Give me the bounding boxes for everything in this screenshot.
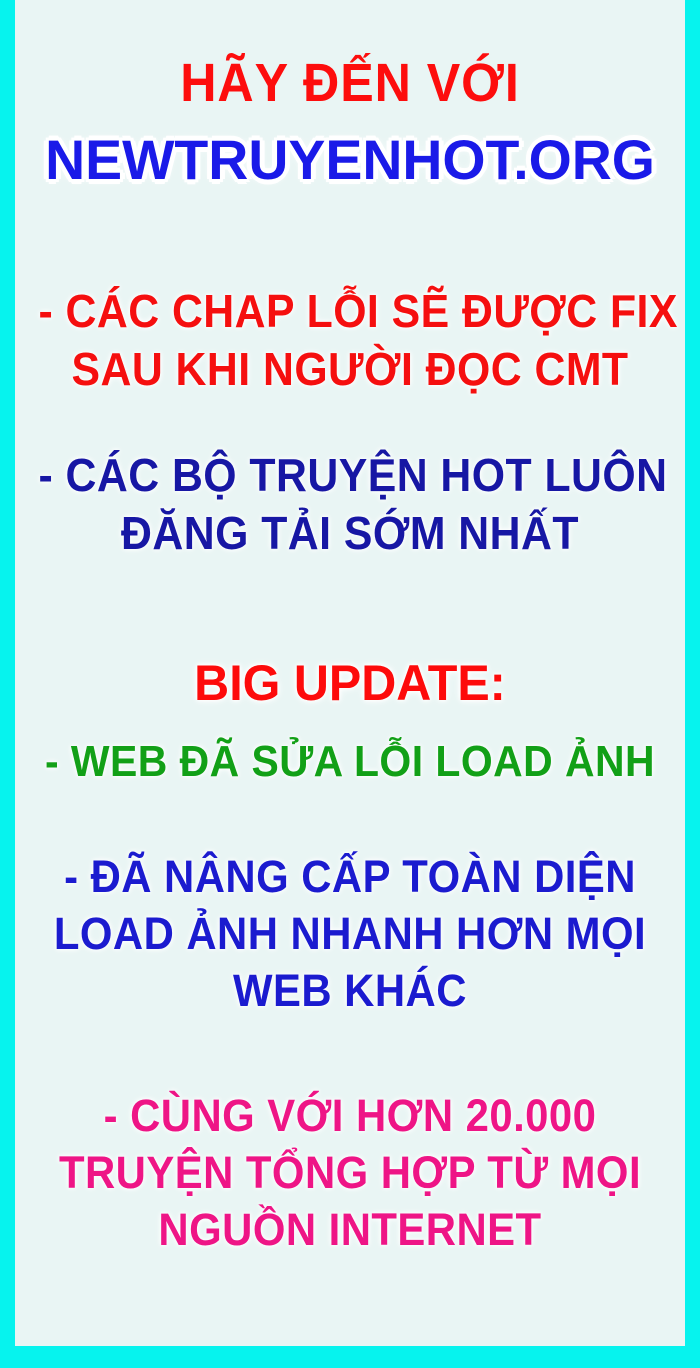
notice-2-line-1: - CÁC BỘ TRUYỆN HOT LUÔN	[38, 452, 661, 498]
notice-2-line-2: ĐĂNG TẢI SỚM NHẤT	[38, 510, 661, 556]
update-section-heading: BIG UPDATE:	[25, 658, 675, 708]
update-item-2-line-1: - ĐÃ NÂNG CẤP TOÀN DIỆN	[38, 854, 661, 899]
headline-intro: HÃY ĐẾN VỚI	[38, 56, 661, 110]
site-url-text: NEWTRUYENHOT.ORG	[18, 132, 681, 188]
notice-1-line-2: SAU KHI NGƯỜI ĐỌC CMT	[38, 346, 661, 392]
update-item-3-line-1: - CÙNG VỚI HƠN 20.000	[38, 1093, 661, 1138]
notice-1-line-1: - CÁC CHAP LỖI SẼ ĐƯỢC FIX	[38, 288, 661, 334]
banner-inner-panel: HÃY ĐẾN VỚI NEWTRUYENHOT.ORG - CÁC CHAP …	[15, 0, 685, 1346]
update-item-3-line-3: NGUỒN INTERNET	[38, 1207, 661, 1252]
promo-banner: HÃY ĐẾN VỚI NEWTRUYENHOT.ORG - CÁC CHAP …	[0, 0, 700, 1368]
update-item-1-line-1: - WEB ĐÃ SỬA LỖI LOAD ẢNH	[38, 740, 661, 784]
update-item-2-line-3: WEB KHÁC	[38, 968, 661, 1013]
update-item-3-line-2: TRUYỆN TỔNG HỢP TỪ MỌI	[38, 1150, 661, 1195]
update-item-2-line-2: LOAD ẢNH NHANH HƠN MỌI	[38, 911, 661, 956]
